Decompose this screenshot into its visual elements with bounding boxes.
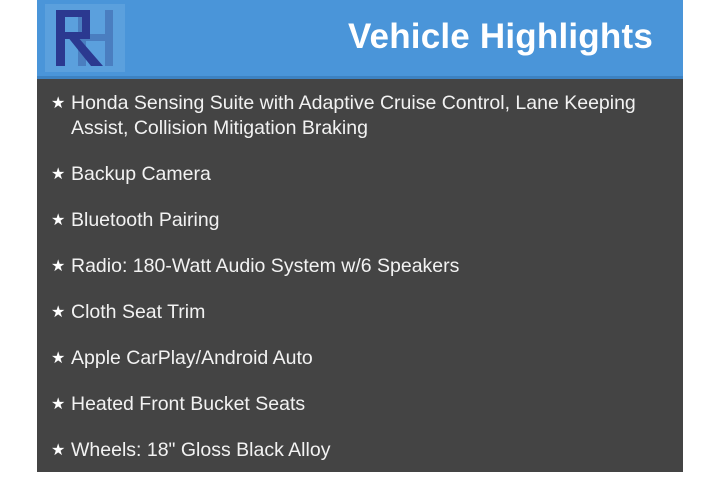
rh-monogram-icon (45, 4, 125, 72)
highlights-body: ★ Honda Sensing Suite with Adaptive Crui… (37, 79, 683, 472)
star-bullet-icon: ★ (47, 91, 71, 116)
star-bullet-icon: ★ (47, 208, 71, 233)
rh-monogram-logo (45, 4, 125, 72)
star-bullet-icon: ★ (47, 392, 71, 417)
list-item: ★ Heated Front Bucket Seats (47, 392, 667, 417)
list-item: ★ Radio: 180-Watt Audio System w/6 Speak… (47, 254, 667, 279)
star-bullet-icon: ★ (47, 254, 71, 279)
vehicle-highlights-list: ★ Honda Sensing Suite with Adaptive Crui… (47, 91, 667, 463)
page-title: Vehicle Highlights (348, 17, 653, 57)
list-item-label: Backup Camera (71, 162, 651, 187)
list-item: ★ Wheels: 18" Gloss Black Alloy (47, 438, 667, 463)
slide-header: Vehicle Highlights (37, 0, 683, 79)
list-item-label: Apple CarPlay/Android Auto (71, 346, 651, 371)
list-item: ★ Backup Camera (47, 162, 667, 187)
list-item-label: Wheels: 18" Gloss Black Alloy (71, 438, 651, 463)
star-bullet-icon: ★ (47, 300, 71, 325)
list-item-label: Heated Front Bucket Seats (71, 392, 651, 417)
list-item-label: Bluetooth Pairing (71, 208, 651, 233)
vehicle-highlights-slide: Vehicle Highlights ★ Honda Sensing Suite… (37, 0, 683, 472)
list-item-label: Honda Sensing Suite with Adaptive Cruise… (71, 91, 651, 141)
list-item-label: Radio: 180-Watt Audio System w/6 Speaker… (71, 254, 651, 279)
star-bullet-icon: ★ (47, 438, 71, 463)
list-item: ★ Apple CarPlay/Android Auto (47, 346, 667, 371)
list-item: ★ Honda Sensing Suite with Adaptive Crui… (47, 91, 667, 141)
star-bullet-icon: ★ (47, 162, 71, 187)
list-item-label: Cloth Seat Trim (71, 300, 651, 325)
list-item: ★ Cloth Seat Trim (47, 300, 667, 325)
list-item: ★ Bluetooth Pairing (47, 208, 667, 233)
star-bullet-icon: ★ (47, 346, 71, 371)
